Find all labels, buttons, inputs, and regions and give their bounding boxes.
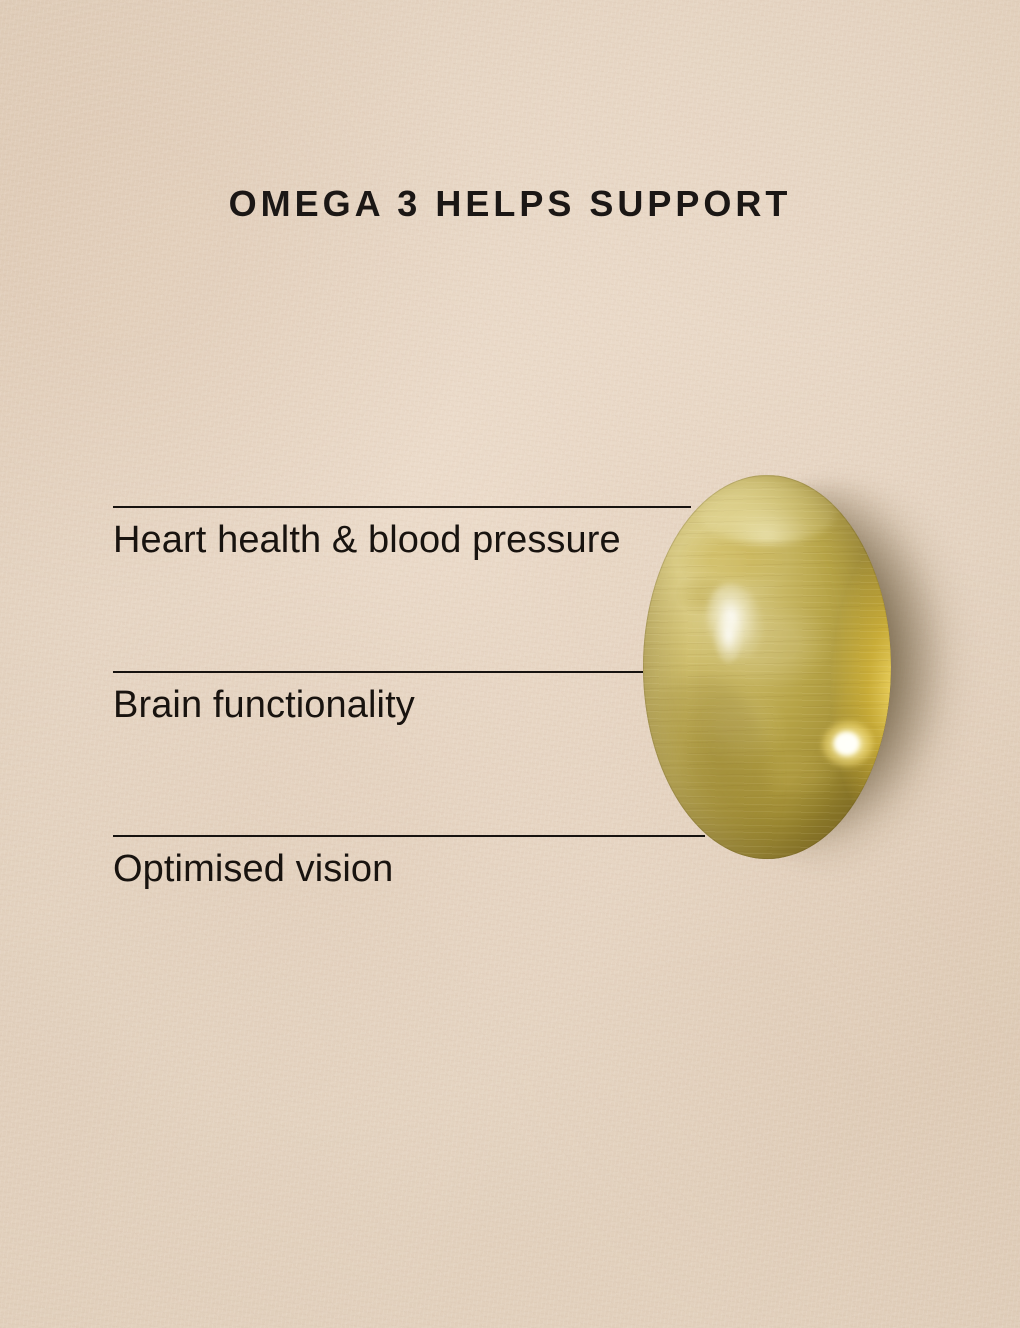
benefit-label: Heart health & blood pressure bbox=[113, 520, 691, 560]
page-title: OMEGA 3 HELPS SUPPORT bbox=[0, 183, 1020, 225]
divider-rule bbox=[113, 671, 643, 673]
divider-rule bbox=[113, 506, 691, 508]
benefit-label: Optimised vision bbox=[113, 849, 705, 889]
divider-rule bbox=[113, 835, 705, 837]
benefit-item-heart-health: Heart health & blood pressure bbox=[113, 506, 691, 560]
benefit-label: Brain functionality bbox=[113, 685, 643, 725]
omega-3-benefits-panel: OMEGA 3 HELPS SUPPORT Heart health & blo… bbox=[0, 0, 1020, 1328]
benefit-item-optimised-vision: Optimised vision bbox=[113, 835, 705, 889]
benefit-item-brain-functionality: Brain functionality bbox=[113, 671, 643, 725]
